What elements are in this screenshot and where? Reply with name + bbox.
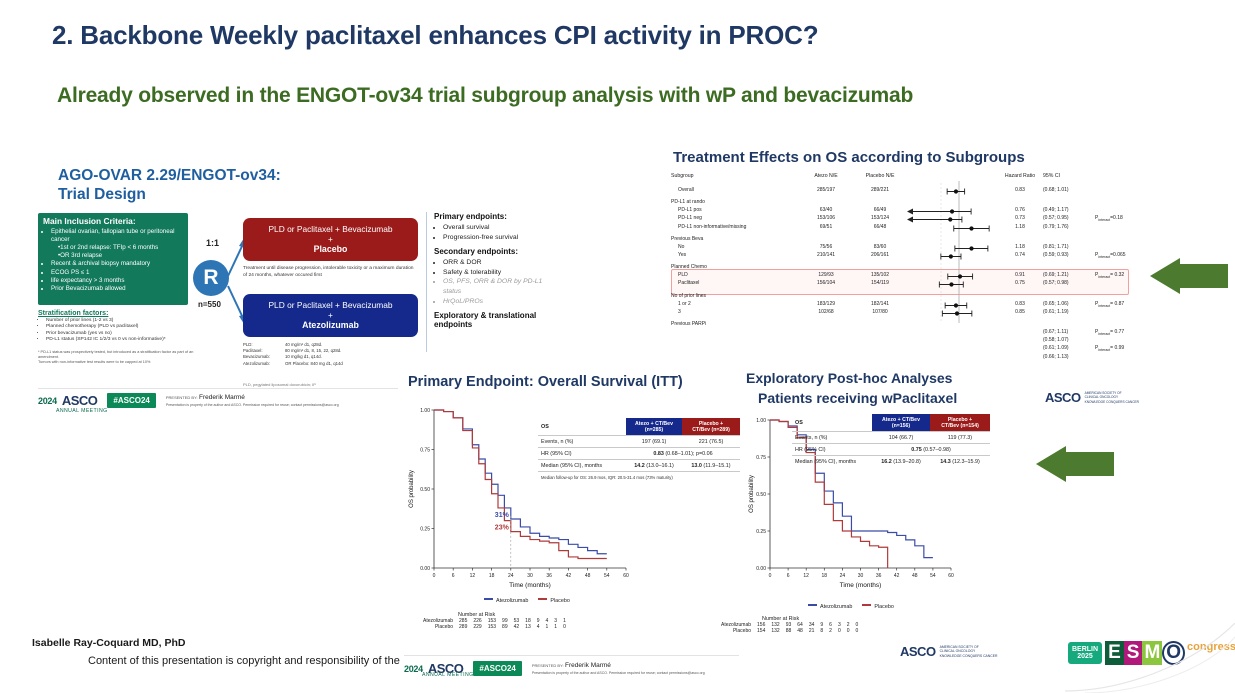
svg-text:0: 0 bbox=[769, 573, 772, 579]
svg-text:60: 60 bbox=[623, 573, 629, 579]
secondary-endpoints-list: ORR & DOR Safety & tolerability OS, PFS,… bbox=[434, 258, 546, 307]
forest-ci: (0.67; 1.11) bbox=[1043, 329, 1091, 335]
page-subtitle: Already observed in the ENGOT-ov34 trial… bbox=[57, 84, 913, 108]
list-item: 1st or 2nd relapse: TFIp < 6 months bbox=[58, 244, 183, 252]
arm-b-regimen: PLD or Paclitaxel + Bevacizumab bbox=[247, 300, 414, 311]
km-itt-legend: Atezolizumab Placebo bbox=[484, 598, 570, 604]
km-wp-risk-table: Atezolizumab15613293643496320Placebo1541… bbox=[718, 622, 861, 634]
col-atezo-line2: (n=285) bbox=[645, 427, 663, 433]
forest-marker bbox=[671, 252, 1129, 261]
dose-value: OR Placebo: 840 mg d1, q14d bbox=[285, 361, 343, 366]
asco-year: 2024 bbox=[404, 664, 423, 674]
svg-text:0.50: 0.50 bbox=[420, 487, 430, 493]
km-itt-risk-block: Number at Risk Atezolizumab2852261539953… bbox=[420, 612, 569, 630]
forest-marker bbox=[671, 187, 1129, 196]
col-header-hr: Hazard Ratio bbox=[1003, 173, 1037, 179]
arm-b-drug: Atezolizumab bbox=[247, 320, 414, 332]
asco-wordmark: ASCO bbox=[62, 393, 98, 408]
risk-cell: 42 bbox=[511, 624, 523, 630]
list-item: PD-L1 status (SP142 IC 1/2/3 vs 0 vs non… bbox=[46, 337, 188, 343]
col-header-placebo: Placebo N/E bbox=[854, 173, 906, 179]
arm-a-plus: + bbox=[247, 235, 414, 244]
legend-item-placebo: Placebo bbox=[862, 604, 893, 610]
presented-by-label: PRESENTED BY: bbox=[532, 663, 564, 668]
median-atezo-ci: (13.9–20.8) bbox=[893, 459, 921, 465]
hr-label: HR (95% CI) bbox=[792, 444, 872, 456]
svg-text:0.75: 0.75 bbox=[756, 455, 766, 461]
table-row: Placebo2892291538942134110 bbox=[420, 624, 569, 630]
forest-plot-grid: Subgroup Atezo N/E Placebo N/E Hazard Ra… bbox=[671, 173, 1129, 371]
risk-cell: 88 bbox=[783, 628, 795, 634]
risk-cell: 13 bbox=[522, 624, 534, 630]
svg-text:24: 24 bbox=[508, 573, 514, 579]
list-item: Progression-free survival bbox=[443, 233, 546, 243]
exploratory-endpoints-heading: Exploratory & translational endpoints bbox=[434, 311, 546, 329]
asco-tagline: AMERICAN SOCIETY OF CLINICAL ONCOLOGY KN… bbox=[1085, 391, 1139, 403]
list-item: ORR & DOR bbox=[443, 258, 546, 268]
median-placebo: 13.0 (11.9–15.1) bbox=[682, 460, 740, 472]
risk-cell: 153 bbox=[485, 624, 499, 630]
presenter-name: Isabelle Ray-Coquard MD, PhD bbox=[32, 637, 185, 649]
table-row: Median (95% CI), months 14.2 (13.0–16.1)… bbox=[538, 460, 740, 472]
trial-footnote: * PD-L1 status was prospectively tested,… bbox=[38, 350, 198, 365]
hr-ci: (0.57–0.98) bbox=[923, 447, 951, 453]
inclusion-criteria-box: Main Inclusion Criteria: Epithelial ovar… bbox=[38, 213, 188, 305]
median-label: Median (95% CI), months bbox=[538, 460, 626, 472]
asco-wordmark: ASCO bbox=[1045, 390, 1081, 405]
legend-item-atezolizumab: Atezolizumab bbox=[484, 598, 528, 604]
asco-wordmark: ASCO bbox=[900, 644, 936, 659]
svg-text:1.00: 1.00 bbox=[756, 418, 766, 424]
table-row: Events, n (%) 104 (66.7) 119 (77.3) bbox=[792, 432, 990, 444]
forest-row-label: Previous PARPi bbox=[671, 321, 796, 327]
forest-plot-title: Treatment Effects on OS according to Sub… bbox=[673, 149, 1025, 166]
asco-year: 2024 bbox=[38, 396, 57, 406]
risk-row-label: Placebo bbox=[718, 628, 754, 634]
median-placebo-ci: (12.3–15.9) bbox=[952, 459, 980, 465]
col-atezo-header: Atezo + CT/Bev (n=285) bbox=[626, 418, 682, 436]
asco-disclaimer: Presentation is property of the author a… bbox=[532, 671, 705, 676]
median-label: Median (95% CI), months bbox=[792, 456, 872, 468]
table-row: Yes210/141206/1610.74(0.59; 0.93)Pintera… bbox=[671, 252, 1129, 261]
events-label: Events, n (%) bbox=[538, 436, 626, 448]
forest-row-label: Previous Beva bbox=[671, 236, 796, 242]
col-placebo-line2: CT/Bev (n=289) bbox=[692, 427, 730, 433]
events-label: Events, n (%) bbox=[792, 432, 872, 444]
forest-p-interaction: Pinteract= 0.77 bbox=[1095, 329, 1151, 336]
col-header-subgroup: Subgroup bbox=[671, 173, 796, 179]
hr-label: HR (95% CI) bbox=[538, 448, 626, 460]
svg-text:48: 48 bbox=[912, 573, 918, 579]
median-atezo: 16.2 (13.9–20.8) bbox=[872, 456, 930, 468]
svg-text:0: 0 bbox=[433, 573, 436, 579]
list-item: OS, PFS, ORR & DOR by PD-L1 status bbox=[443, 277, 546, 297]
green-arrow-km-wp bbox=[1036, 446, 1114, 482]
km-wp-panel: Exploratory Post-hoc Analyses Patients r… bbox=[740, 366, 1040, 656]
asco-presenter-name: Frederik Marmé bbox=[199, 394, 245, 401]
slide-root: 2. Backbone Weekly paclitaxel enhances C… bbox=[0, 0, 1235, 693]
median-placebo-ci: (11.9–15.1) bbox=[703, 463, 730, 469]
risk-cell: 4 bbox=[534, 624, 543, 630]
risk-cell: 229 bbox=[470, 624, 484, 630]
risk-cell: 2 bbox=[826, 628, 835, 634]
asco-hashtag: #ASCO24 bbox=[107, 393, 155, 408]
asco-annual-meeting: ANNUAL MEETING bbox=[422, 672, 474, 678]
forest-marker bbox=[671, 309, 1129, 318]
risk-cell: 132 bbox=[768, 628, 782, 634]
endpoints-block: Primary endpoints: Overall survival Prog… bbox=[426, 212, 546, 352]
median-placebo-value: 14.3 bbox=[940, 459, 951, 465]
arm-a-regimen: PLD or Paclitaxel + Bevacizumab bbox=[247, 224, 414, 235]
table-row: Median follow-up for OS: 26.9 mos, IQR: … bbox=[538, 472, 740, 483]
median-atezo-value: 14.2 bbox=[634, 463, 645, 469]
forest-marker bbox=[671, 224, 1129, 233]
svg-text:42: 42 bbox=[566, 573, 572, 579]
forest-p-interaction: Pinteract= 0.99 bbox=[1095, 345, 1151, 352]
forest-row-label: PD-L1 at rando bbox=[671, 199, 796, 205]
km-wp-risk-block: Number at Risk Atezolizumab1561329364349… bbox=[718, 616, 861, 634]
list-item: Prior Bevacizumab allowed bbox=[51, 285, 183, 293]
forest-ci: (0.58; 1.07) bbox=[1043, 337, 1091, 343]
svg-text:23%: 23% bbox=[495, 525, 510, 532]
hr-value: 0.83 (0.68–1.01); p=0.06 bbox=[626, 448, 740, 460]
arm-a-drug: Placebo bbox=[247, 244, 414, 256]
asco-presenter-name: Frederik Marmé bbox=[565, 662, 611, 669]
risk-cell: 21 bbox=[806, 628, 818, 634]
median-atezo-value: 16.2 bbox=[881, 459, 892, 465]
svg-text:0.25: 0.25 bbox=[756, 529, 766, 535]
col-atezo-header: Atezo + CT/Bev (n=156) bbox=[872, 414, 930, 432]
table-row: Events, n (%) 197 (69.1) 221 (76.5) bbox=[538, 436, 740, 448]
svg-text:18: 18 bbox=[489, 573, 495, 579]
events-atezo: 197 (69.1) bbox=[626, 436, 682, 448]
randomization-icon: R bbox=[193, 260, 229, 296]
svg-text:42: 42 bbox=[894, 573, 900, 579]
asco-presented-by: PRESENTED BY: Frederik Marmé Presentatio… bbox=[532, 661, 705, 676]
svg-text:Time (months): Time (months) bbox=[509, 582, 551, 589]
list-item: Epithelial ovarian, fallopian tube or pe… bbox=[51, 228, 183, 244]
legend-item-atezolizumab: Atezolizumab bbox=[808, 604, 852, 610]
table-row: PD-L1 non-informative/missing69/5166/481… bbox=[671, 224, 1129, 233]
median-followup-note: Median follow-up for OS: 26.9 mos, IQR: … bbox=[538, 472, 740, 483]
svg-text:OS probability: OS probability bbox=[409, 470, 415, 508]
km-itt-risk-table: Atezolizumab2852261539953189431Placebo28… bbox=[420, 618, 569, 630]
stratification-list: Number of prior lines (1-2 vs 3) Planned… bbox=[38, 318, 188, 344]
km-itt-results-table: OS Atezo + CT/Bev (n=285) Placebo + CT/B… bbox=[538, 418, 740, 482]
arm-b-plus: + bbox=[247, 311, 414, 320]
arm-atezolizumab-box: PLD or Paclitaxel + Bevacizumab + Atezol… bbox=[243, 294, 418, 337]
table-row: Paclitaxel156/104154/1190.75(0.57; 0.98) bbox=[671, 280, 1129, 289]
forest-marker bbox=[671, 280, 1129, 289]
table-row: 3102/68107/800.85(0.61; 1.19) bbox=[671, 309, 1129, 318]
svg-text:12: 12 bbox=[803, 573, 809, 579]
svg-text:Time (months): Time (months) bbox=[840, 582, 882, 589]
col-header-atezo: Atezo N/E bbox=[802, 173, 850, 179]
table-row: HR (95% CI) 0.75 (0.57–0.98) bbox=[792, 444, 990, 456]
hr-value: 0.75 (0.57–0.98) bbox=[872, 444, 990, 456]
table-row: OS Atezo + CT/Bev (n=156) Placebo + CT/B… bbox=[792, 414, 990, 432]
risk-cell: 89 bbox=[499, 624, 511, 630]
svg-text:6: 6 bbox=[787, 573, 790, 579]
col-placebo-header: Placebo + CT/Bev (n=289) bbox=[682, 418, 740, 436]
trial-title-line1: AGO-OVAR 2.29/ENGOT-ov34: bbox=[58, 167, 281, 184]
svg-text:0.75: 0.75 bbox=[420, 448, 430, 454]
median-placebo: 14.3 (12.3–15.9) bbox=[930, 456, 990, 468]
svg-text:60: 60 bbox=[948, 573, 954, 579]
risk-cell: 0 bbox=[560, 624, 569, 630]
risk-cell: 0 bbox=[853, 628, 862, 634]
risk-row-label: Placebo bbox=[420, 624, 456, 630]
median-placebo-value: 13.0 bbox=[691, 463, 702, 469]
primary-endpoints-list: Overall survival Progression-free surviv… bbox=[434, 223, 546, 243]
risk-cell: 0 bbox=[844, 628, 853, 634]
legend-item-placebo: Placebo bbox=[538, 598, 569, 604]
dose-row: Atezolizumab:OR Placebo: 840 mg d1, q14d bbox=[243, 361, 423, 367]
inclusion-heading: Main Inclusion Criteria: bbox=[43, 217, 183, 227]
table-row: OS Atezo + CT/Bev (n=285) Placebo + CT/B… bbox=[538, 418, 740, 436]
col-placebo-header: Placebo + CT/Bev (n=154) bbox=[930, 414, 990, 432]
median-atezo-ci: (13.0–16.1) bbox=[646, 463, 674, 469]
hr-point-estimate: 0.83 bbox=[653, 451, 664, 457]
forest-ci: (0.61; 1.09) bbox=[1043, 345, 1091, 351]
svg-text:24: 24 bbox=[840, 573, 846, 579]
risk-cell: 289 bbox=[456, 624, 470, 630]
inclusion-list: Epithelial ovarian, fallopian tube or pe… bbox=[43, 228, 183, 294]
svg-text:30: 30 bbox=[527, 573, 533, 579]
asco-disclaimer: Presentation is property of the author a… bbox=[166, 403, 339, 408]
table-row-label: OS bbox=[792, 414, 872, 432]
svg-text:54: 54 bbox=[930, 573, 936, 579]
primary-endpoints-heading: Primary endpoints: bbox=[434, 212, 546, 221]
table-row-label: OS bbox=[538, 418, 626, 436]
footnote-line: * PD-L1 status was prospectively tested,… bbox=[38, 350, 198, 360]
km-wp-legend: Atezolizumab Placebo bbox=[808, 604, 894, 610]
km-itt-panel: Primary Endpoint: Overall Survival (ITT)… bbox=[398, 370, 743, 693]
col-placebo-line2: CT/Bev (n=154) bbox=[941, 423, 979, 429]
events-placebo: 119 (77.3) bbox=[930, 432, 990, 444]
stratification-block: Stratification factors: Number of prior … bbox=[38, 310, 188, 344]
dose-value: 80 mg/m² d1, 8, 15, 22, q28d. bbox=[285, 348, 341, 353]
table-row: Placebo15413288482182000 bbox=[718, 628, 861, 634]
forest-row-label: Planned Chemo bbox=[671, 264, 796, 270]
pld-abbrev-note: PLD, pegylated liposomal doxorubicin; IP bbox=[243, 382, 316, 387]
footnote-line: Tumors with non-informative test results… bbox=[38, 360, 198, 365]
list-item: Safety & tolerability bbox=[443, 268, 546, 278]
treatment-duration-note: Treatment until disease progression, int… bbox=[243, 266, 418, 280]
dose-value: 40 mg/m² d1, q28d. bbox=[285, 342, 322, 347]
presented-by-label: PRESENTED BY: bbox=[166, 395, 198, 400]
table-row: Median (95% CI), months 16.2 (13.9–20.8)… bbox=[792, 456, 990, 468]
trial-design-title: AGO-OVAR 2.29/ENGOT-ov34: Trial Design bbox=[58, 167, 388, 205]
risk-cell: 1 bbox=[543, 624, 552, 630]
arm-placebo-box: PLD or Paclitaxel + Bevacizumab + Placeb… bbox=[243, 218, 418, 261]
asco-hashtag: #ASCO24 bbox=[473, 661, 521, 676]
events-placebo: 221 (76.5) bbox=[682, 436, 740, 448]
asco-logo-km-wp: ASCO AMERICAN SOCIETY OF CLINICAL ONCOLO… bbox=[900, 644, 997, 659]
list-item: Recent & archival biopsy mandatory bbox=[51, 260, 183, 268]
trial-title-line2: Trial Design bbox=[58, 186, 146, 203]
svg-text:18: 18 bbox=[822, 573, 828, 579]
table-row: (0.66; 1.13) bbox=[671, 354, 1129, 363]
svg-text:0.25: 0.25 bbox=[420, 527, 430, 533]
svg-text:0.50: 0.50 bbox=[756, 492, 766, 498]
randomization-ratio: 1:1 bbox=[206, 238, 219, 248]
copyright-note: Content of this presentation is copyrigh… bbox=[88, 655, 400, 667]
svg-text:0.00: 0.00 bbox=[756, 566, 766, 572]
svg-text:12: 12 bbox=[470, 573, 476, 579]
asco-logo-forest: ASCO AMERICAN SOCIETY OF CLINICAL ONCOLO… bbox=[1045, 390, 1139, 405]
km-wp-title-line1: Exploratory Post-hoc Analyses bbox=[746, 370, 952, 386]
forest-ci: (0.66; 1.13) bbox=[1043, 354, 1091, 360]
svg-text:31%: 31% bbox=[495, 512, 510, 519]
km-wp-results-table: OS Atezo + CT/Bev (n=156) Placebo + CT/B… bbox=[792, 414, 990, 467]
km-itt-title: Primary Endpoint: Overall Survival (ITT) bbox=[408, 374, 683, 390]
svg-text:6: 6 bbox=[452, 573, 455, 579]
forest-row-label: No of prior lines bbox=[671, 293, 796, 299]
corner-swoosh-decoration bbox=[1065, 623, 1235, 693]
list-item: HrQoL/PROs bbox=[443, 297, 546, 307]
forest-plot-panel: Treatment Effects on OS according to Sub… bbox=[663, 143, 1135, 376]
list-item: life expectancy > 3 months bbox=[51, 277, 183, 285]
risk-cell: 154 bbox=[754, 628, 768, 634]
asco-tagline: AMERICAN SOCIETY OF CLINICAL ONCOLOGY KN… bbox=[940, 645, 998, 658]
dosing-block: PLD:40 mg/m² d1, q28d. Paclitaxel:80 mg/… bbox=[243, 342, 423, 367]
risk-cell: 0 bbox=[835, 628, 844, 634]
dose-value: 10 mg/kg d1, q14d. bbox=[285, 354, 322, 359]
green-arrow-forest bbox=[1150, 258, 1228, 294]
secondary-endpoints-heading: Secondary endpoints: bbox=[434, 247, 546, 256]
asco-logo: 2024 ASCO bbox=[38, 393, 97, 408]
svg-text:1.00: 1.00 bbox=[420, 408, 430, 414]
inclusion-sublist: 1st or 2nd relapse: TFIp < 6 months OR 3… bbox=[51, 244, 183, 260]
km-wp-results-table-wrap: OS Atezo + CT/Bev (n=156) Placebo + CT/B… bbox=[792, 414, 990, 467]
svg-text:30: 30 bbox=[858, 573, 864, 579]
list-item: OR 3rd relapse bbox=[58, 252, 183, 260]
svg-text:0.00: 0.00 bbox=[420, 566, 430, 572]
dose-drug: Atezolizumab: bbox=[243, 361, 285, 367]
hr-ci-p: (0.68–1.01); p=0.06 bbox=[665, 451, 712, 457]
km-wp-title-line2: Patients receiving wPaclitaxel bbox=[758, 390, 957, 406]
stratification-heading: Stratification factors: bbox=[38, 310, 188, 317]
col-header-ci: 95% CI bbox=[1043, 173, 1091, 179]
svg-text:54: 54 bbox=[604, 573, 610, 579]
svg-text:36: 36 bbox=[546, 573, 552, 579]
hr-point-estimate: 0.75 bbox=[911, 447, 922, 453]
risk-cell: 48 bbox=[794, 628, 806, 634]
risk-cell: 1 bbox=[551, 624, 560, 630]
sample-size-label: n=550 bbox=[198, 300, 221, 309]
svg-text:36: 36 bbox=[876, 573, 882, 579]
events-atezo: 104 (66.7) bbox=[872, 432, 930, 444]
svg-text:48: 48 bbox=[585, 573, 591, 579]
table-row: Overall285/197289/2210.83(0.68; 1.01) bbox=[671, 187, 1129, 196]
col-atezo-line2: (n=156) bbox=[892, 423, 910, 429]
table-row: HR (95% CI) 0.83 (0.68–1.01); p=0.06 bbox=[538, 448, 740, 460]
km-itt-results-table-wrap: OS Atezo + CT/Bev (n=285) Placebo + CT/B… bbox=[538, 418, 740, 482]
median-atezo: 14.2 (13.0–16.1) bbox=[626, 460, 682, 472]
list-item: Overall survival bbox=[443, 223, 546, 233]
page-title: 2. Backbone Weekly paclitaxel enhances C… bbox=[52, 20, 818, 51]
list-item: ECOG PS ≤ 1 bbox=[51, 269, 183, 277]
risk-cell: 8 bbox=[817, 628, 826, 634]
svg-text:OS probability: OS probability bbox=[749, 475, 755, 513]
asco-presented-by: PRESENTED BY: Frederik Marmé Presentatio… bbox=[166, 393, 339, 408]
